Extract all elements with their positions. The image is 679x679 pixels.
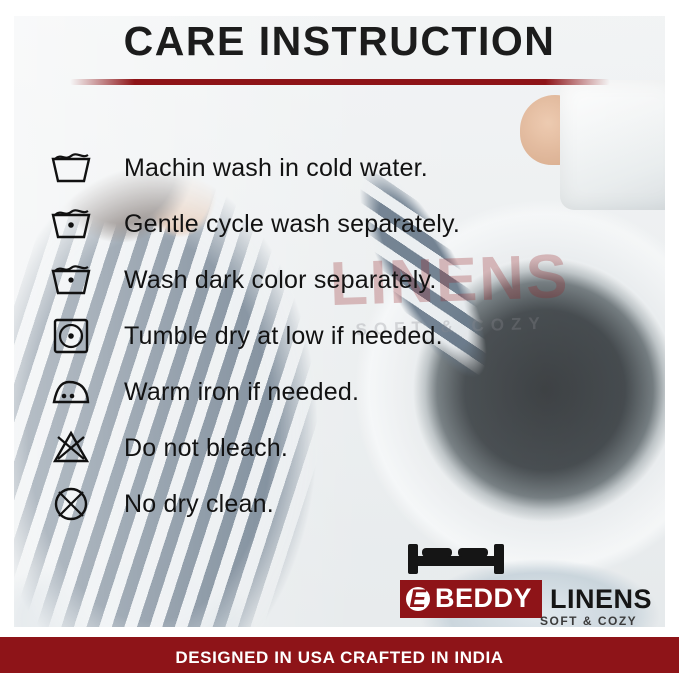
instruction-text: Do not bleach. bbox=[102, 434, 288, 463]
tumble-dry-low-icon bbox=[40, 316, 102, 356]
list-item: Do not bleach. bbox=[40, 420, 600, 476]
bed-icon bbox=[406, 538, 506, 576]
list-item: Tumble dry at low if needed. bbox=[40, 308, 600, 364]
title-divider bbox=[70, 79, 610, 85]
list-item: Gentle cycle wash separately. bbox=[40, 196, 600, 252]
page-title: CARE INSTRUCTION bbox=[0, 18, 679, 65]
instruction-text: Gentle cycle wash separately. bbox=[102, 210, 460, 239]
wash-tub-one-dot-alt-icon bbox=[40, 261, 102, 299]
no-dry-clean-icon bbox=[40, 484, 102, 524]
footer-separator bbox=[0, 627, 679, 637]
frame-top-border bbox=[0, 0, 679, 16]
footer-text: DESIGNED IN USA CRAFTED IN INDIA bbox=[175, 648, 503, 668]
instruction-text: Tumble dry at low if needed. bbox=[102, 322, 443, 351]
brand-red-badge: E BEDDY bbox=[400, 580, 542, 618]
instruction-text: No dry clean. bbox=[102, 490, 274, 519]
instruction-text: Warm iron if needed. bbox=[102, 378, 359, 407]
frame-bottom-border bbox=[0, 673, 679, 679]
list-item: No dry clean. bbox=[40, 476, 600, 532]
brand-name-red: BEDDY bbox=[435, 583, 532, 614]
title-block: CARE INSTRUCTION bbox=[0, 18, 679, 85]
list-item: Machin wash in cold water. bbox=[40, 140, 600, 196]
instruction-text: Wash dark color separately. bbox=[102, 266, 436, 295]
do-not-bleach-icon bbox=[40, 429, 102, 467]
brand-name-block: E BEDDY LINENS bbox=[400, 580, 652, 618]
brand-name-black: LINENS bbox=[550, 584, 652, 615]
brand-mark: E bbox=[406, 587, 430, 611]
brand-tagline: SOFT & COZY bbox=[540, 614, 637, 628]
wash-tub-icon bbox=[40, 149, 102, 187]
list-item: Warm iron if needed. bbox=[40, 364, 600, 420]
frame-left-border bbox=[0, 0, 14, 679]
instruction-text: Machin wash in cold water. bbox=[102, 154, 428, 183]
frame-right-border bbox=[665, 0, 679, 679]
list-item: Wash dark color separately. bbox=[40, 252, 600, 308]
warm-iron-icon bbox=[40, 375, 102, 409]
wash-tub-one-dot-icon bbox=[40, 205, 102, 243]
brand-logo: E BEDDY LINENS SOFT & COZY bbox=[400, 538, 660, 638]
care-instruction-card: LINENS SOFT & COZY CARE INSTRUCTION Mach… bbox=[0, 0, 679, 679]
instruction-list: Machin wash in cold water. Gentle cycle … bbox=[40, 140, 600, 532]
